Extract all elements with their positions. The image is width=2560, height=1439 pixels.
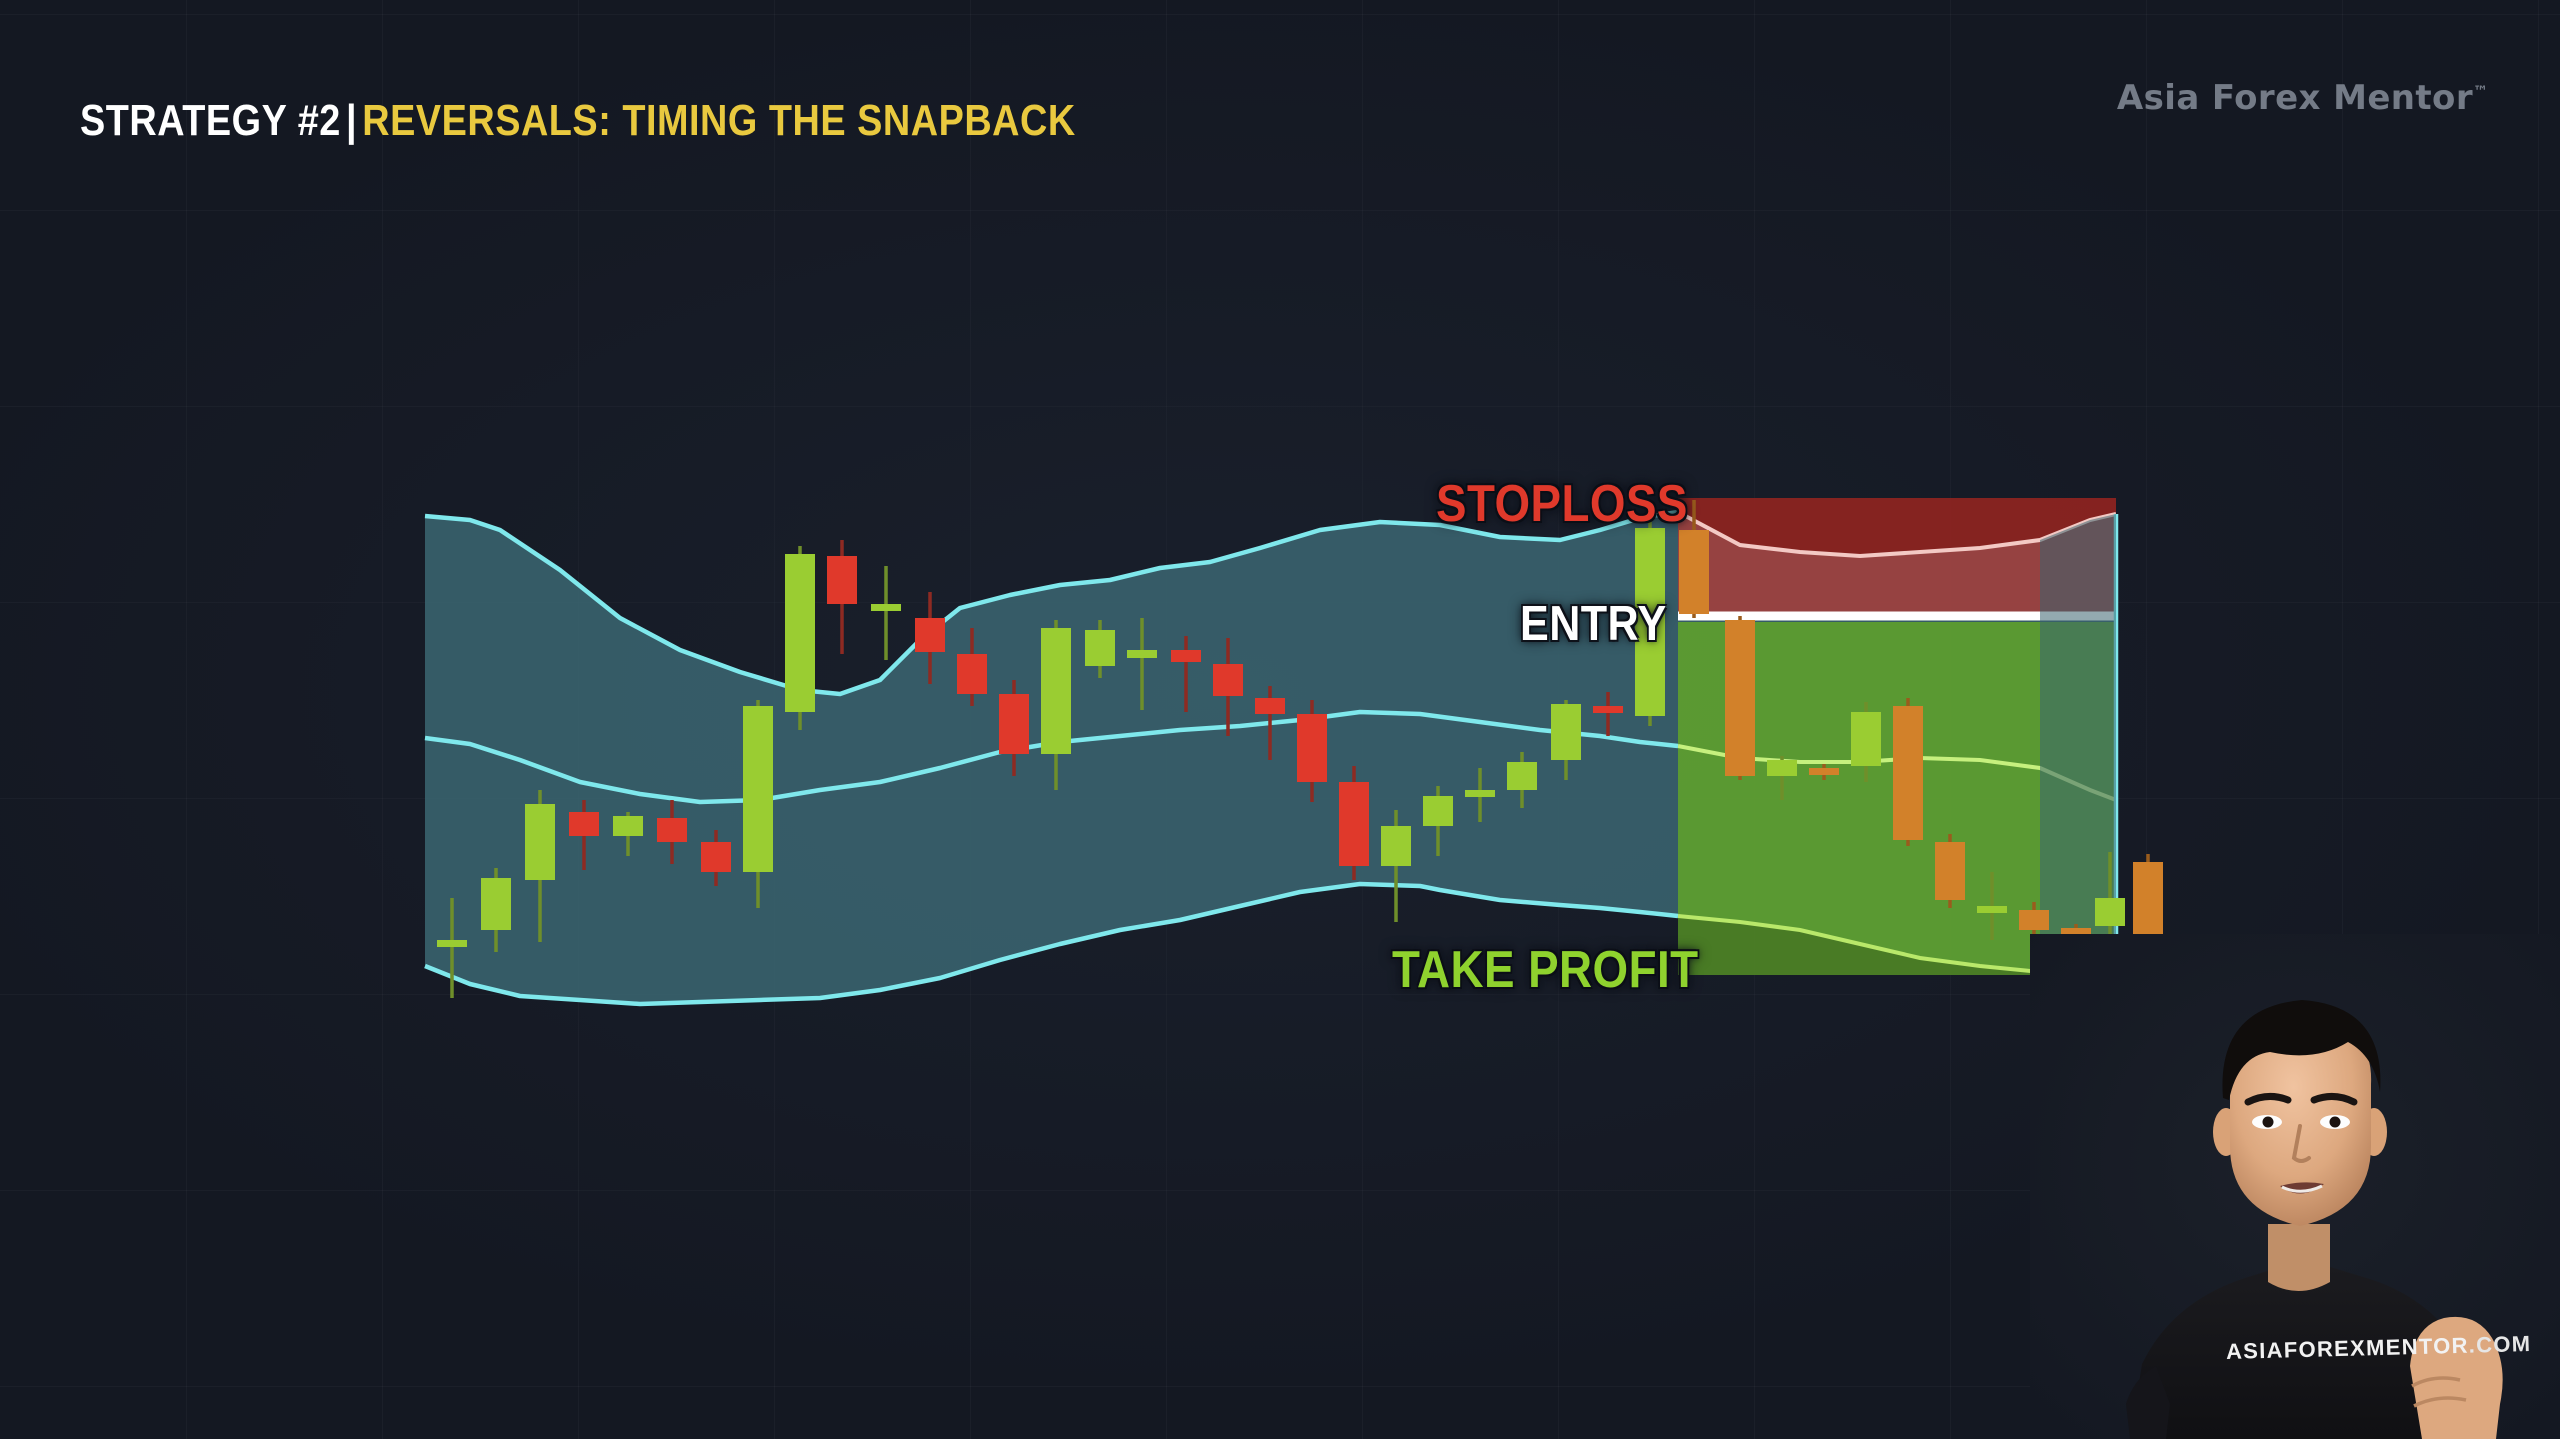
candle-body	[1551, 704, 1581, 760]
brand-watermark: Asia Forex Mentor™	[2117, 78, 2488, 118]
candle	[871, 566, 901, 660]
video-frame: STRATEGY #2|REVERSALS: TIMING THE SNAPBA…	[0, 0, 2560, 1439]
presenter-video-overlay: ASIAFOREXMENTOR.COM	[2030, 934, 2560, 1439]
candle-body	[1381, 826, 1411, 866]
candle-body	[1851, 712, 1881, 766]
candle-body	[785, 554, 815, 712]
candle-body	[2095, 898, 2125, 926]
candle-body	[569, 812, 599, 836]
shirt-logo-main: ASIAFOREXMENTOR	[2226, 1333, 2469, 1364]
stoploss-label: STOPLOSS	[1436, 474, 1688, 534]
candle-body	[1041, 628, 1071, 754]
candle-body	[1977, 906, 2007, 913]
candle-body	[871, 604, 901, 611]
candle-body	[827, 556, 857, 604]
candle-body	[1893, 706, 1923, 840]
candle-body	[1213, 664, 1243, 696]
candle-body	[957, 654, 987, 694]
title-subtitle: REVERSALS: TIMING THE SNAPBACK	[362, 96, 1075, 145]
candle-body	[999, 694, 1029, 754]
candle-body	[613, 816, 643, 836]
candle-body	[1339, 782, 1369, 866]
presenter-portrait	[2030, 934, 2560, 1439]
candle-body	[1423, 796, 1453, 826]
candle-body	[1255, 698, 1285, 714]
candle	[1725, 616, 1755, 780]
candle-body	[481, 878, 511, 930]
candle	[785, 546, 815, 730]
candle	[1893, 698, 1923, 846]
candle-body	[2019, 910, 2049, 930]
candle-body	[1935, 842, 1965, 900]
candle-body	[657, 818, 687, 842]
candle-body	[1809, 768, 1839, 775]
page-title: STRATEGY #2|REVERSALS: TIMING THE SNAPBA…	[80, 96, 1076, 146]
title-divider: |	[346, 96, 357, 145]
candle-body	[525, 804, 555, 880]
trademark-symbol: ™	[2473, 83, 2488, 101]
candle-body	[701, 842, 731, 872]
candle-body	[1679, 530, 1709, 614]
candle-body	[437, 940, 467, 947]
candle	[1935, 834, 1965, 908]
title-strategy: STRATEGY #2	[80, 96, 341, 145]
entry-label: ENTRY	[1520, 596, 1667, 652]
candle-body	[743, 706, 773, 872]
presenter-neck	[2268, 1224, 2330, 1291]
candle	[1381, 810, 1411, 922]
candle-body	[1725, 620, 1755, 776]
candle-body	[1465, 790, 1495, 797]
candle	[827, 540, 857, 654]
candle	[1339, 766, 1369, 880]
candle-body	[1507, 762, 1537, 790]
candle-body	[1171, 650, 1201, 662]
take-profit-label: TAKE PROFIT	[1392, 940, 1699, 1000]
candle-body	[1593, 706, 1623, 713]
candle-body	[915, 618, 945, 652]
shirt-logo-tld: .COM	[2468, 1331, 2531, 1358]
candle-body	[1297, 714, 1327, 782]
candle-body	[1127, 650, 1157, 658]
candle-body	[1085, 630, 1115, 666]
candle-body	[1767, 760, 1797, 776]
brand-name: Asia Forex Mentor	[2117, 78, 2473, 118]
